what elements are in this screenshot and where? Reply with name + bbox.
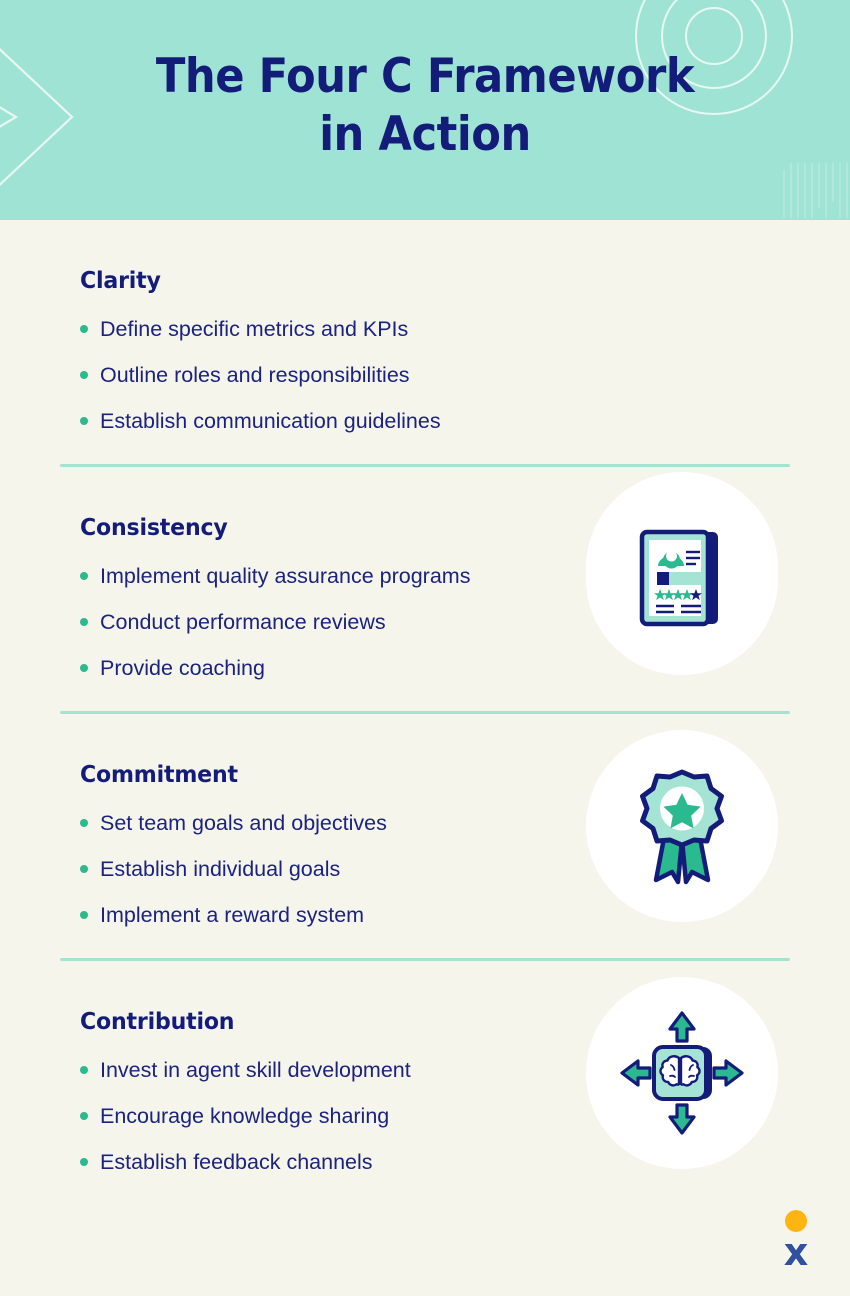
section-clarity: Clarity Define specific metrics and KPIs… — [0, 220, 850, 464]
section-heading-contribution: Contribution — [80, 1009, 752, 1035]
logo-dot-icon — [785, 1210, 807, 1232]
bullet-dot-icon — [80, 664, 88, 672]
bullet-list-clarity: Define specific metrics and KPIs Outline… — [80, 306, 780, 444]
section-commitment: Commitment Set team goals and objectives… — [0, 714, 850, 958]
list-item-label: Set team goals and objectives — [100, 811, 387, 835]
bullet-dot-icon — [80, 618, 88, 626]
page-title: The Four C Framework in Action — [34, 48, 816, 164]
list-item-label: Establish individual goals — [100, 857, 340, 881]
list-item: Provide coaching — [80, 645, 780, 691]
list-item: Establish feedback channels — [80, 1139, 780, 1185]
list-item-label: Implement quality assurance programs — [100, 564, 470, 588]
page-title-line-1: The Four C Framework — [34, 48, 816, 106]
section-heading-commitment: Commitment — [80, 762, 752, 788]
list-item-label: Establish communication guidelines — [100, 409, 441, 433]
bullet-dot-icon — [80, 325, 88, 333]
section-heading-clarity: Clarity — [80, 268, 752, 294]
bullet-dot-icon — [80, 911, 88, 919]
list-item: Define specific metrics and KPIs — [80, 306, 780, 352]
list-item-label: Encourage knowledge sharing — [100, 1104, 389, 1128]
main-content: Clarity Define specific metrics and KPIs… — [0, 220, 850, 1205]
list-item-label: Invest in agent skill development — [100, 1058, 411, 1082]
bullet-dot-icon — [80, 1066, 88, 1074]
section-heading-consistency: Consistency — [80, 515, 752, 541]
list-item-label: Implement a reward system — [100, 903, 364, 927]
list-item-label: Define specific metrics and KPIs — [100, 317, 408, 341]
list-item: Establish communication guidelines — [80, 398, 780, 444]
list-item: Invest in agent skill development — [80, 1047, 780, 1093]
bullet-dot-icon — [80, 1158, 88, 1166]
bullet-dot-icon — [80, 819, 88, 827]
page-title-line-2: in Action — [34, 106, 816, 164]
list-item-label: Provide coaching — [100, 656, 265, 680]
vertical-stripes-decoration — [780, 160, 850, 220]
bullet-dot-icon — [80, 572, 88, 580]
logo-mark-letter: x — [784, 1230, 809, 1268]
list-item: Establish individual goals — [80, 846, 780, 892]
bullet-dot-icon — [80, 865, 88, 873]
list-item: Set team goals and objectives — [80, 800, 780, 846]
bullet-list-contribution: Invest in agent skill development Encour… — [80, 1047, 780, 1185]
bullet-dot-icon — [80, 417, 88, 425]
bullet-list-consistency: Implement quality assurance programs Con… — [80, 553, 780, 691]
list-item-label: Establish feedback channels — [100, 1150, 373, 1174]
list-item: Implement quality assurance programs — [80, 553, 780, 599]
list-item: Implement a reward system — [80, 892, 780, 938]
list-item-label: Conduct performance reviews — [100, 610, 386, 634]
page-header: The Four C Framework in Action — [0, 0, 850, 220]
list-item: Outline roles and responsibilities — [80, 352, 780, 398]
section-contribution: Contribution Invest in agent skill devel… — [0, 961, 850, 1205]
list-item: Conduct performance reviews — [80, 599, 780, 645]
section-consistency: Consistency Implement quality assurance … — [0, 467, 850, 711]
bullet-dot-icon — [80, 1112, 88, 1120]
nextiva-logo[interactable]: x — [776, 1208, 816, 1268]
bullet-list-commitment: Set team goals and objectives Establish … — [80, 800, 780, 938]
bullet-dot-icon — [80, 371, 88, 379]
list-item: Encourage knowledge sharing — [80, 1093, 780, 1139]
list-item-label: Outline roles and responsibilities — [100, 363, 410, 387]
